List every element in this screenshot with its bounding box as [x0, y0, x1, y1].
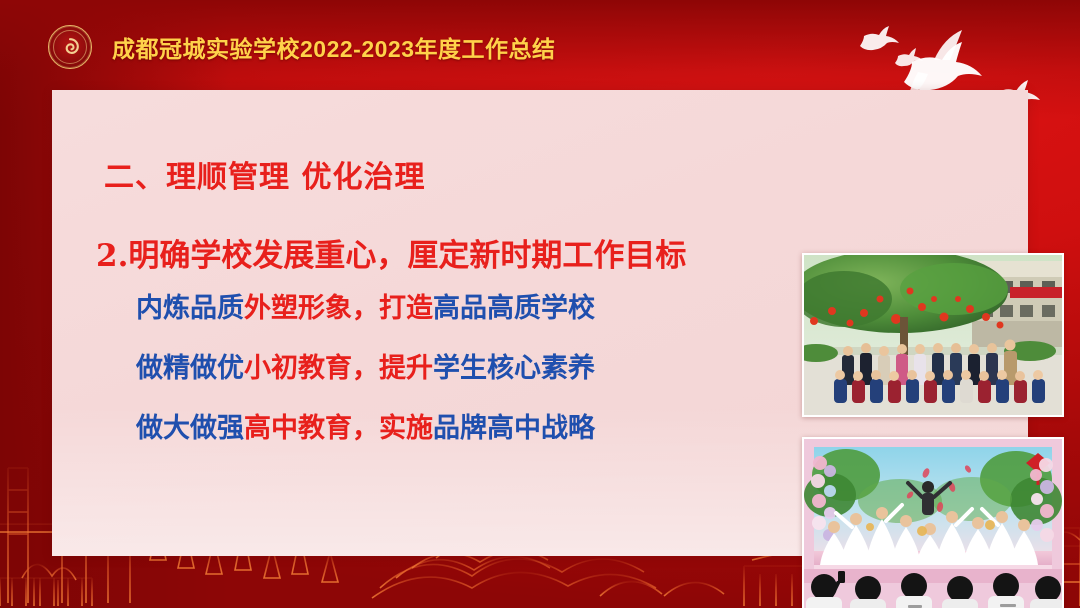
sub-heading: 2.明确学校发展重心，厘定新时期工作目标: [96, 230, 686, 275]
school-emblem-logo: [48, 25, 92, 69]
section-heading: 二、理顺管理 优化治理: [104, 152, 425, 196]
bullet-line-1: 内炼品质外塑形象，打造高品高质学校: [136, 295, 756, 322]
content-panel: 二、理顺管理 优化治理 2.明确学校发展重心，厘定新时期工作目标 内炼品质外塑形…: [52, 90, 1028, 556]
bullet-2-segment-2: 小初教育，提升: [244, 353, 433, 384]
bullet-3-segment-1: 做大做强: [136, 413, 244, 444]
presentation-slide: 成都冠城实验学校2022-2023年度工作总结: [0, 0, 1080, 608]
bullet-3-segment-3: 品牌高中战略: [433, 413, 595, 444]
slide-header: 成都冠城实验学校2022-2023年度工作总结: [0, 0, 1080, 90]
bullet-line-3: 做大做强高中教育，实施品牌高中战略: [136, 415, 756, 442]
bullet-2-segment-1: 做精做优: [136, 353, 244, 384]
bullet-line-2: 做精做优小初教育，提升学生核心素养: [136, 355, 756, 382]
photo-stage-performance: [802, 437, 1064, 608]
bullet-1-segment-3: 高品高质学校: [433, 293, 595, 324]
spiral-icon: [58, 35, 82, 59]
bullet-1-segment-2: 外塑形象，打造: [244, 293, 433, 324]
page-title: 成都冠城实验学校2022-2023年度工作总结: [112, 30, 556, 64]
bullet-3-segment-2: 高中教育，实施: [244, 413, 433, 444]
photo-group-under-tree: [802, 253, 1064, 417]
bullet-1-segment-1: 内炼品质: [136, 293, 244, 324]
bullet-list: 内炼品质外塑形象，打造高品高质学校 做精做优小初教育，提升学生核心素养 做大做强…: [136, 295, 756, 475]
bullet-2-segment-3: 学生核心素养: [433, 353, 595, 384]
